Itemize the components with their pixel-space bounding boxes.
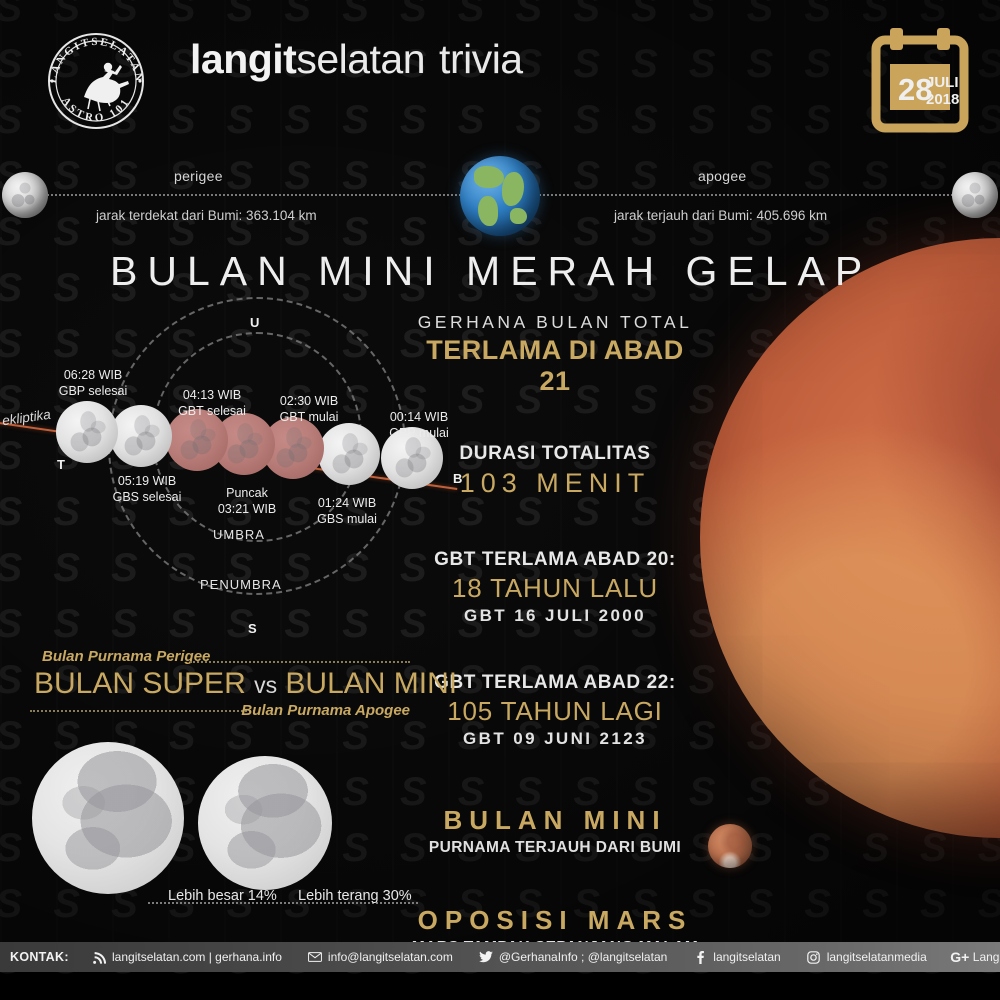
umbra-label: UMBRA <box>213 527 265 542</box>
calendar-icon: 28 JULI 2018 <box>868 26 972 136</box>
eclipse-path-diagram: U S T B ekliptika 06:28 WIB GBP selesai … <box>0 305 470 645</box>
footer-contact-item[interactable]: langitselatan.com | gerhana.info <box>92 950 282 964</box>
eclipse-record-block: GERHANA BULAN TOTAL TERLAMA DI ABAD 21 <box>410 312 700 397</box>
page-title: langitselatantrivia <box>190 36 523 83</box>
apogee-moon-icon <box>952 172 998 218</box>
compare-bottom-label: Bulan Purnama Apogee <box>241 702 410 719</box>
phase-label-gbt-selesai: 04:13 WIB GBT selesai <box>165 387 259 419</box>
phase-label-gbt-mulai: 02:30 WIB GBT mulai <box>262 393 356 425</box>
instagram-icon <box>807 950 821 964</box>
footer-contact-text: @GerhanaInfo ; @langitselatan <box>499 950 667 964</box>
footer-contact-text: langitselatan <box>713 950 780 964</box>
langitselatan-logo[interactable]: LANGITSELATAN ASTRO 101 <box>32 25 160 135</box>
watermark-s: S <box>962 876 1000 932</box>
footer-contact-item[interactable]: langitselatan <box>693 950 780 964</box>
watermark-s: S <box>731 876 789 932</box>
minimoon-title: BULAN MINI <box>410 805 700 836</box>
peak-label: Puncak <box>200 485 294 501</box>
envelope-icon <box>308 950 322 964</box>
phase-time: 05:19 WIB <box>100 473 194 489</box>
watermark-s: S <box>38 988 96 1000</box>
watermark-s: S <box>673 988 731 1000</box>
brand-name-bold: langit <box>190 36 296 82</box>
duration-block: DURASI TOTALITAS 103 MENIT <box>410 443 700 499</box>
watermark-s: S <box>442 988 500 1000</box>
peak-label-group: Puncak 03:21 WIB <box>200 485 294 517</box>
watermark-s: S <box>731 988 789 1000</box>
info-column: GERHANA BULAN TOTAL TERLAMA DI ABAD 21 D… <box>410 312 700 957</box>
footer-contact-item[interactable]: langitselatanmedia <box>807 950 927 964</box>
phase-time: 01:24 WIB <box>300 495 394 511</box>
cardinal-west: T <box>57 457 65 472</box>
main-headline: BULAN MINI MERAH GELAP <box>110 248 872 295</box>
brand-name-light: selatan <box>296 36 425 82</box>
watermark-s: S <box>789 820 847 876</box>
ecliptic-label: ekliptika <box>1 407 51 429</box>
watermark-s: S <box>0 988 38 1000</box>
minimoon-caption: PURNAMA TERJAUH DARI BUMI <box>410 839 700 857</box>
phase-time: 04:13 WIB <box>165 387 259 403</box>
footer-contact-text: LangitselatanMedia <box>973 950 1000 964</box>
footer-contact-item[interactable]: G+LangitselatanMedia <box>953 950 1000 964</box>
watermark-s: S <box>847 988 905 1000</box>
mars-icon <box>708 824 752 868</box>
apogee-detail: jarak terjauh dari Bumi: 405.696 km <box>614 208 827 223</box>
perigee-label: perigee <box>174 168 223 184</box>
supermoon-comparison: Bulan Purnama Perigee BULAN SUPER vs BUL… <box>20 648 420 918</box>
century20-value: 18 TAHUN LALU <box>410 573 700 604</box>
header: LANGITSELATAN ASTRO 101 langitselatantri… <box>0 0 1000 150</box>
footer-contact-text: info@langitselatan.com <box>328 950 453 964</box>
cardinal-south: S <box>248 621 257 636</box>
calendar-month: JULI <box>926 74 959 91</box>
penumbra-label: PENUMBRA <box>200 577 282 592</box>
compare-title-left: BULAN SUPER <box>34 667 246 700</box>
phase-event: GBT mulai <box>262 409 356 425</box>
supermoon-disc <box>32 742 184 894</box>
orbit-distance-band: perigee jarak terdekat dari Bumi: 363.10… <box>0 152 1000 252</box>
phase-event: GBS mulai <box>300 511 394 527</box>
watermark-s: S <box>384 988 442 1000</box>
eclipse-moon-gbs-mulai <box>318 423 380 485</box>
phase-event: GBT selesai <box>165 403 259 419</box>
apogee-label: apogee <box>698 168 747 184</box>
minimoon-block: BULAN MINI PURNAMA TERJAUH DARI BUMI <box>410 805 700 857</box>
infographic-page: SSSSSSSSSSSSSSSSSSSSSSSSSSSSSSSSSSSSSSSS… <box>0 0 1000 1000</box>
earth-icon <box>460 156 540 236</box>
compare-title-right: BULAN MINI <box>285 667 457 700</box>
eclipse-moon-gbs-selesai <box>110 405 172 467</box>
footer-contact-text: langitselatan.com | gerhana.info <box>112 950 282 964</box>
watermark-s: S <box>789 988 847 1000</box>
phase-event: GBP selesai <box>48 383 138 399</box>
calendar-year: 2018 <box>926 91 959 108</box>
twitter-icon <box>479 950 493 964</box>
watermark-s: S <box>847 820 905 876</box>
watermark-s: S <box>211 988 269 1000</box>
footer-items: langitselatan.com | gerhana.infoinfo@lan… <box>92 942 1000 972</box>
century20-label: GBT TERLAMA ABAD 20: <box>410 549 700 571</box>
phase-label-gbs-mulai: 01:24 WIB GBS mulai <box>300 495 394 527</box>
phase-label-gbp-selesai: 06:28 WIB GBP selesai <box>48 367 138 399</box>
duration-value: 103 MENIT <box>410 468 700 499</box>
footer-contact-text: langitselatanmedia <box>827 950 927 964</box>
watermark-s: S <box>731 764 789 820</box>
compare-stat-brightness: Lebih terang 30% <box>298 888 412 904</box>
century20-date: GBT 16 JULI 2000 <box>410 606 700 626</box>
eclipse-record-label: TERLAMA DI ABAD 21 <box>410 335 700 397</box>
mars-title: OPOSISI MARS <box>410 905 700 936</box>
watermark-s: S <box>904 988 962 1000</box>
footer-contact-bar: KONTAK: langitselatan.com | gerhana.info… <box>0 942 1000 972</box>
phase-time: 06:28 WIB <box>48 367 138 383</box>
compare-title-vs: vs <box>254 672 277 698</box>
century22-date: GBT 09 JUNI 2123 <box>410 729 700 749</box>
watermark-s: S <box>616 988 674 1000</box>
facebook-icon <box>693 950 707 964</box>
footer-contact-item[interactable]: @GerhanaInfo ; @langitselatan <box>479 950 667 964</box>
watermark-s: S <box>500 988 558 1000</box>
phase-event: GBS selesai <box>100 489 194 505</box>
rss-icon <box>92 950 106 964</box>
watermark-s: S <box>327 988 385 1000</box>
brand-suffix: trivia <box>439 36 523 82</box>
compare-bottom-rule <box>30 710 255 712</box>
footer-kontak-label: KONTAK: <box>10 942 69 972</box>
eclipse-kind-label: GERHANA BULAN TOTAL <box>410 312 700 333</box>
watermark-s: S <box>269 988 327 1000</box>
footer-contact-item[interactable]: info@langitselatan.com <box>308 950 453 964</box>
watermark-s: S <box>789 876 847 932</box>
watermark-s: S <box>96 988 154 1000</box>
phase-label-gbs-selesai: 05:19 WIB GBS selesai <box>100 473 194 505</box>
minimoon-disc <box>198 756 332 890</box>
compare-stat-size: Lebih besar 14% <box>168 888 277 904</box>
watermark-s: S <box>962 988 1000 1000</box>
eclipse-moon-gbp-selesai <box>56 401 118 463</box>
watermark-s: S <box>847 876 905 932</box>
watermark-s: S <box>904 876 962 932</box>
watermark-s: S <box>558 988 616 1000</box>
perigee-detail: jarak terdekat dari Bumi: 363.104 km <box>96 208 317 223</box>
compare-title: BULAN SUPER vs BULAN MINI <box>34 667 457 701</box>
svg-text:LANGITSELATAN: LANGITSELATAN <box>47 36 145 84</box>
phase-time: 02:30 WIB <box>262 393 356 409</box>
compare-top-label: Bulan Purnama Perigee <box>42 648 210 665</box>
peak-time: 03:21 WIB <box>200 501 294 517</box>
cardinal-north: U <box>250 315 259 330</box>
century20-block: GBT TERLAMA ABAD 20: 18 TAHUN LALU GBT 1… <box>410 549 700 626</box>
compare-top-rule <box>190 661 410 663</box>
watermark-s: S <box>153 988 211 1000</box>
duration-label: DURASI TOTALITAS <box>410 443 700 465</box>
perigee-moon-icon <box>2 172 48 218</box>
googleplus-icon: G+ <box>953 950 967 964</box>
